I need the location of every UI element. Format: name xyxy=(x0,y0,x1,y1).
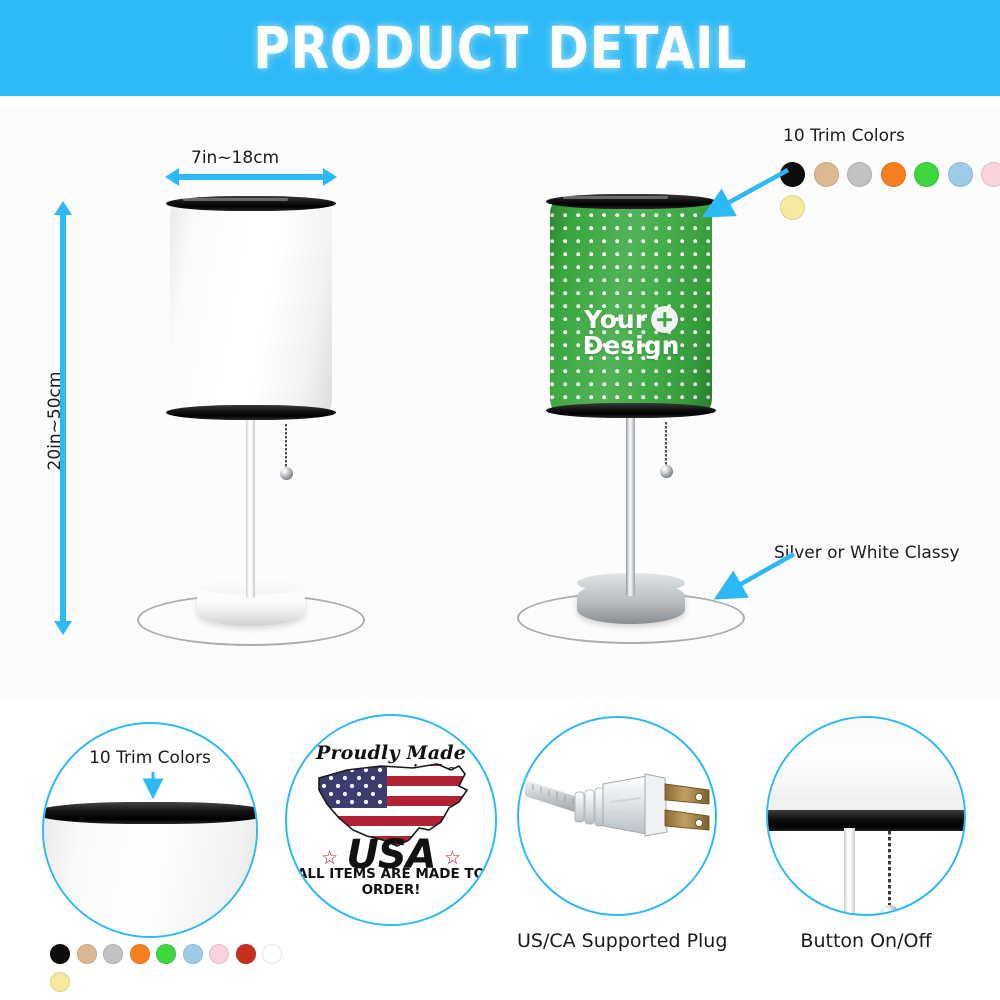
trim-colors-swatch-group-bottom xyxy=(50,944,282,992)
swatch-gray[interactable] xyxy=(847,162,872,187)
chain-links xyxy=(285,424,287,468)
lamp-pole-closeup xyxy=(844,828,855,916)
swatch-row-primary xyxy=(50,944,282,964)
swatch-row-primary xyxy=(780,162,1000,187)
feature-panel-trim-colors: 10 Trim Colors xyxy=(42,722,258,938)
plug-circle xyxy=(517,716,717,916)
chain-links xyxy=(665,422,667,466)
chain-links xyxy=(888,831,891,907)
chain-knob[interactable] xyxy=(280,467,293,480)
trim-highlight xyxy=(183,198,288,201)
feature-panels: 10 Trim Colors xyxy=(0,700,1000,1000)
shade-closeup-surface xyxy=(766,716,966,816)
swatch-orange[interactable] xyxy=(881,162,906,187)
swatch-orange[interactable] xyxy=(130,944,150,964)
lampshade-surface xyxy=(170,202,332,414)
width-dimension-arrow xyxy=(178,174,324,180)
swatch-red[interactable] xyxy=(236,944,256,964)
page-banner: PRODUCT DETAIL xyxy=(0,0,1000,96)
switch-circle xyxy=(766,716,966,916)
trim-colors-circle: 10 Trim Colors xyxy=(42,722,258,938)
badge-text-made-to-order: ALL ITEMS ARE MADE TO ORDER! xyxy=(287,866,495,898)
trim-colors-heading: 10 Trim Colors xyxy=(783,126,905,146)
shade-trim-bottom xyxy=(166,405,336,420)
feature-panel-made-in-usa: Proudly Made in the xyxy=(285,714,497,926)
shade-trim-top xyxy=(166,196,336,211)
swatch-pink[interactable] xyxy=(209,944,229,964)
trim-down-arrow-icon xyxy=(142,770,164,804)
swatch-tan[interactable] xyxy=(814,162,839,187)
lampshade-green: Your Design xyxy=(550,200,712,412)
shade-closeup-trim xyxy=(766,810,966,831)
shade-closeup-trim xyxy=(42,802,258,824)
swatch-gray[interactable] xyxy=(103,944,123,964)
lampshade-white xyxy=(170,202,332,414)
switch-caption: Button On/Off xyxy=(766,930,966,952)
shade-trim-bottom xyxy=(546,403,716,418)
swatch-yellow[interactable] xyxy=(50,972,70,992)
swatch-tan[interactable] xyxy=(77,944,97,964)
made-in-usa-badge: Proudly Made in the xyxy=(285,714,497,926)
lamp-pole-silver xyxy=(626,414,635,596)
trim-colors-inner-label: 10 Trim Colors xyxy=(44,748,256,768)
swatch-row-secondary xyxy=(780,195,1000,220)
plug-caption: US/CA Supported Plug xyxy=(517,930,717,952)
width-dimension-label: 7in~18cm xyxy=(191,148,279,168)
base-finish-pointer-arrow xyxy=(700,546,802,608)
lamp-pole-white xyxy=(246,416,255,598)
swatch-light-blue[interactable] xyxy=(948,162,973,187)
banner-divider xyxy=(0,96,1000,106)
swatch-green[interactable] xyxy=(156,944,176,964)
product-detail-page: PRODUCT DETAIL 7in~18cm 20in~50cm xyxy=(0,0,1000,1000)
swatch-pink[interactable] xyxy=(981,162,1000,187)
feature-panel-plug: US/CA Supported Plug xyxy=(517,716,717,916)
feature-panel-switch: Button On/Off xyxy=(766,716,966,916)
swatch-green[interactable] xyxy=(914,162,939,187)
trim-pointer-arrow xyxy=(688,164,796,226)
shade-closeup-surface xyxy=(42,812,258,938)
swatch-white[interactable] xyxy=(262,944,282,964)
pull-chain-switch-closeup[interactable] xyxy=(888,831,891,907)
swatch-light-blue[interactable] xyxy=(183,944,203,964)
chain-knob[interactable] xyxy=(880,905,899,916)
swatch-row-secondary xyxy=(50,972,282,992)
us-plug-icon xyxy=(519,718,717,916)
trim-colors-swatch-group xyxy=(780,162,1000,220)
pull-chain-switch[interactable] xyxy=(285,424,287,468)
height-dimension-label: 20in~50cm xyxy=(45,361,65,481)
chain-knob[interactable] xyxy=(660,465,673,478)
lampshade-surface-dots xyxy=(550,200,712,412)
page-title: PRODUCT DETAIL xyxy=(253,14,747,82)
swatch-black[interactable] xyxy=(50,944,70,964)
lamp-showcase: 7in~18cm 20in~50cm xyxy=(0,106,1000,700)
trim-highlight xyxy=(563,196,668,199)
pull-chain-switch[interactable] xyxy=(665,422,667,466)
